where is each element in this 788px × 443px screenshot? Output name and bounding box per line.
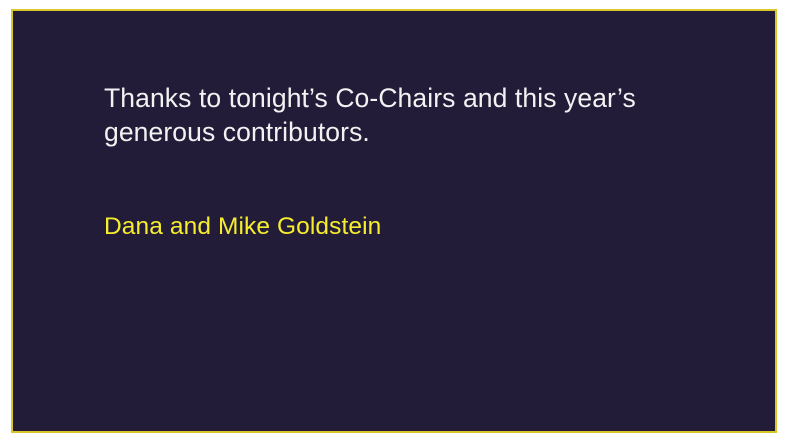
slide-canvas: Thanks to tonight’s Co-Chairs and this y… [11,9,777,433]
signature-text: Dana and Mike Goldstein [104,149,735,243]
headline-text: Thanks to tonight’s Co-Chairs and this y… [104,81,735,149]
slide-text-block: Thanks to tonight’s Co-Chairs and this y… [104,81,735,243]
slide-page: Thanks to tonight’s Co-Chairs and this y… [0,0,788,443]
